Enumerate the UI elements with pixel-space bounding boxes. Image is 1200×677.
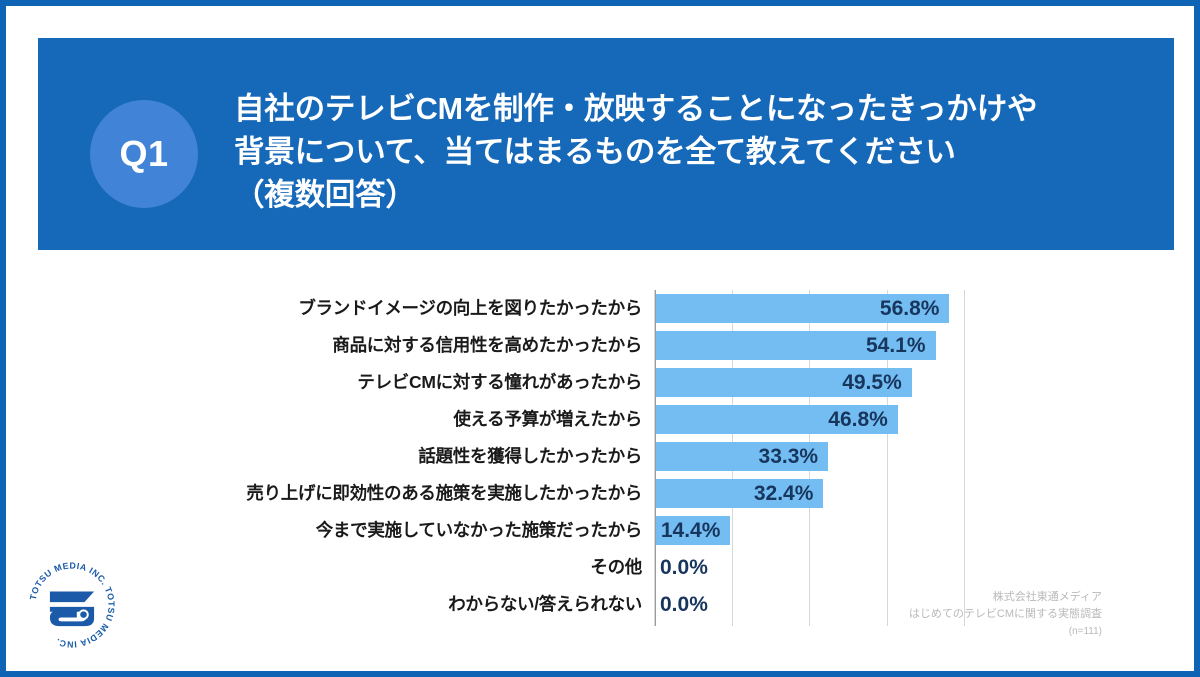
bar-row: テレビCMに対する憧れがあったから49.5% [654, 364, 964, 401]
category-label: 売り上げに即効性のある施策を実施したかったから [94, 475, 642, 512]
bar-value-label: 32.4% [754, 475, 814, 512]
slide-canvas: Q1 自社のテレビCMを制作・放映することになったきっかけや 背景について、当て… [0, 0, 1200, 677]
category-label: その他 [94, 549, 642, 586]
bar-value-label: 33.3% [759, 438, 819, 475]
bar-row: 使える予算が増えたから46.8% [654, 401, 964, 438]
bar-value-label: 14.4% [661, 512, 721, 549]
credit-survey: はじめてのテレビCMに関する実態調査 [909, 606, 1102, 623]
bar-row: 売り上げに即効性のある施策を実施したかったから32.4% [654, 475, 964, 512]
credit-sample-size: (n=111) [909, 623, 1102, 640]
bar-row: 商品に対する信用性を高めたかったから54.1% [654, 327, 964, 364]
category-label: 商品に対する信用性を高めたかったから [94, 327, 642, 364]
question-number-badge: Q1 [90, 100, 198, 208]
totsu-media-logo: TOTSU MEDIA INC. TOTSU MEDIA INC. [24, 557, 120, 653]
bar-value-label: 0.0% [660, 586, 708, 623]
bar-row: ブランドイメージの向上を図りたかったから56.8% [654, 290, 964, 327]
bar-row: その他0.0% [654, 549, 964, 586]
gridline-60 [964, 290, 965, 626]
bar-value-label: 46.8% [828, 401, 888, 438]
bar-value-label: 0.0% [660, 549, 708, 586]
source-credit: 株式会社東通メディア はじめてのテレビCMに関する実態調査 (n=111) [909, 589, 1102, 640]
category-label: 話題性を獲得したかったから [94, 438, 642, 475]
bar-row: 今まで実施していなかった施策だったから14.4% [654, 512, 964, 549]
bar-row: 話題性を獲得したかったから33.3% [654, 438, 964, 475]
bar-value-label: 54.1% [866, 327, 926, 364]
bar-value-label: 56.8% [880, 290, 940, 327]
bar-chart: ブランドイメージの向上を図りたかったから56.8%商品に対する信用性を高めたかっ… [6, 278, 1200, 638]
category-label: 今まで実施していなかった施策だったから [94, 512, 642, 549]
category-label: ブランドイメージの向上を図りたかったから [94, 290, 642, 327]
category-label: 使える予算が増えたから [94, 401, 642, 438]
bar-value-label: 49.5% [842, 364, 902, 401]
question-text: 自社のテレビCMを制作・放映することになったきっかけや 背景について、当てはまる… [234, 88, 1150, 217]
credit-company: 株式会社東通メディア [909, 589, 1102, 606]
question-header-band: Q1 自社のテレビCMを制作・放映することになったきっかけや 背景について、当て… [36, 36, 1176, 252]
category-label: わからない/答えられない [94, 586, 642, 623]
category-label: テレビCMに対する憧れがあったから [94, 364, 642, 401]
plot-area: ブランドイメージの向上を図りたかったから56.8%商品に対する信用性を高めたかっ… [654, 290, 964, 626]
